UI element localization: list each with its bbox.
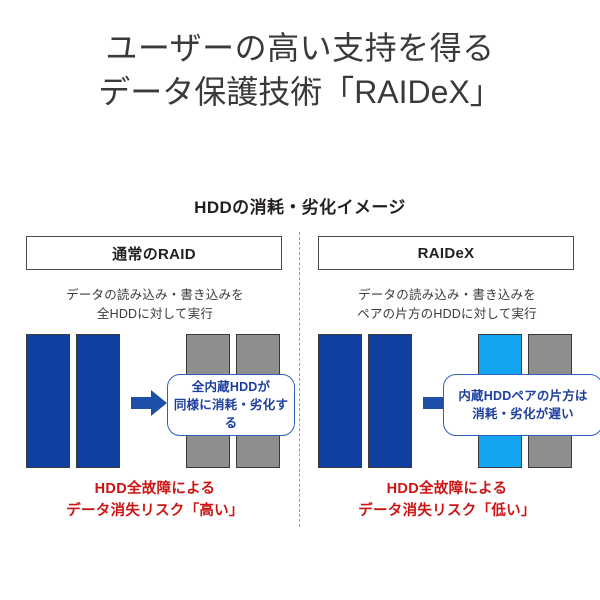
conclusion-line-1: HDD全故障による — [311, 478, 583, 500]
panel-header-raidex: RAIDeX — [318, 236, 574, 270]
panel-description-line-2: 全HDDに対して実行 — [19, 305, 291, 324]
panel-normal-raid: 通常のRAID データの読み込み・書き込みを 全HDDに対して実行 全内蔵HDD… — [19, 236, 291, 531]
page-title: ユーザーの高い支持を得る データ保護技術「RAIDeX」 — [0, 26, 600, 114]
callout-line-2: 消耗・劣化が遅い — [472, 405, 574, 423]
infographic-page: ユーザーの高い支持を得る データ保護技術「RAIDeX」 HDDの消耗・劣化イメ… — [0, 0, 600, 600]
conclusion-normal-raid: HDD全故障による データ消失リスク「高い」 — [19, 478, 291, 522]
section-heading: HDDの消耗・劣化イメージ — [0, 193, 600, 218]
conclusion-raidex: HDD全故障による データ消失リスク「低い」 — [311, 478, 583, 522]
panel-description-normal-raid: データの読み込み・書き込みを 全HDDに対して実行 — [19, 286, 291, 324]
panel-header-normal-raid: 通常のRAID — [26, 236, 282, 270]
hdd-bar-active-2 — [368, 334, 412, 468]
panel-description-line-1: データの読み込み・書き込みを — [311, 286, 583, 305]
callout-raidex: 内蔵HDDペアの片方は 消耗・劣化が遅い — [443, 374, 600, 436]
hdd-bar-active-2 — [76, 334, 120, 468]
hdd-bar-active-1 — [318, 334, 362, 468]
panel-raidex: RAIDeX データの読み込み・書き込みを ペアの片方のHDDに対して実行 内蔵… — [311, 236, 583, 531]
callout-line-1: 全内蔵HDDが — [192, 378, 270, 396]
conclusion-line-2: データ消失リスク「高い」 — [19, 500, 291, 522]
conclusion-line-2: データ消失リスク「低い」 — [311, 500, 583, 522]
panel-description-raidex: データの読み込み・書き込みを ペアの片方のHDDに対して実行 — [311, 286, 583, 324]
title-line-1: ユーザーの高い支持を得る — [0, 26, 600, 70]
panel-description-line-1: データの読み込み・書き込みを — [19, 286, 291, 305]
callout-normal-raid: 全内蔵HDDが 同様に消耗・劣化する — [167, 374, 295, 436]
panel-description-line-2: ペアの片方のHDDに対して実行 — [311, 305, 583, 324]
title-line-2: データ保護技術「RAIDeX」 — [0, 70, 600, 114]
panel-divider — [299, 232, 300, 527]
diagram-raidex: 内蔵HDDペアの片方は 消耗・劣化が遅い — [311, 332, 583, 472]
right-arrow-icon — [131, 390, 167, 416]
conclusion-line-1: HDD全故障による — [19, 478, 291, 500]
callout-line-1: 内蔵HDDペアの片方は — [458, 387, 587, 405]
callout-line-2: 同様に消耗・劣化する — [168, 396, 294, 432]
diagram-normal-raid: 全内蔵HDDが 同様に消耗・劣化する — [19, 332, 291, 472]
hdd-bar-active-1 — [26, 334, 70, 468]
